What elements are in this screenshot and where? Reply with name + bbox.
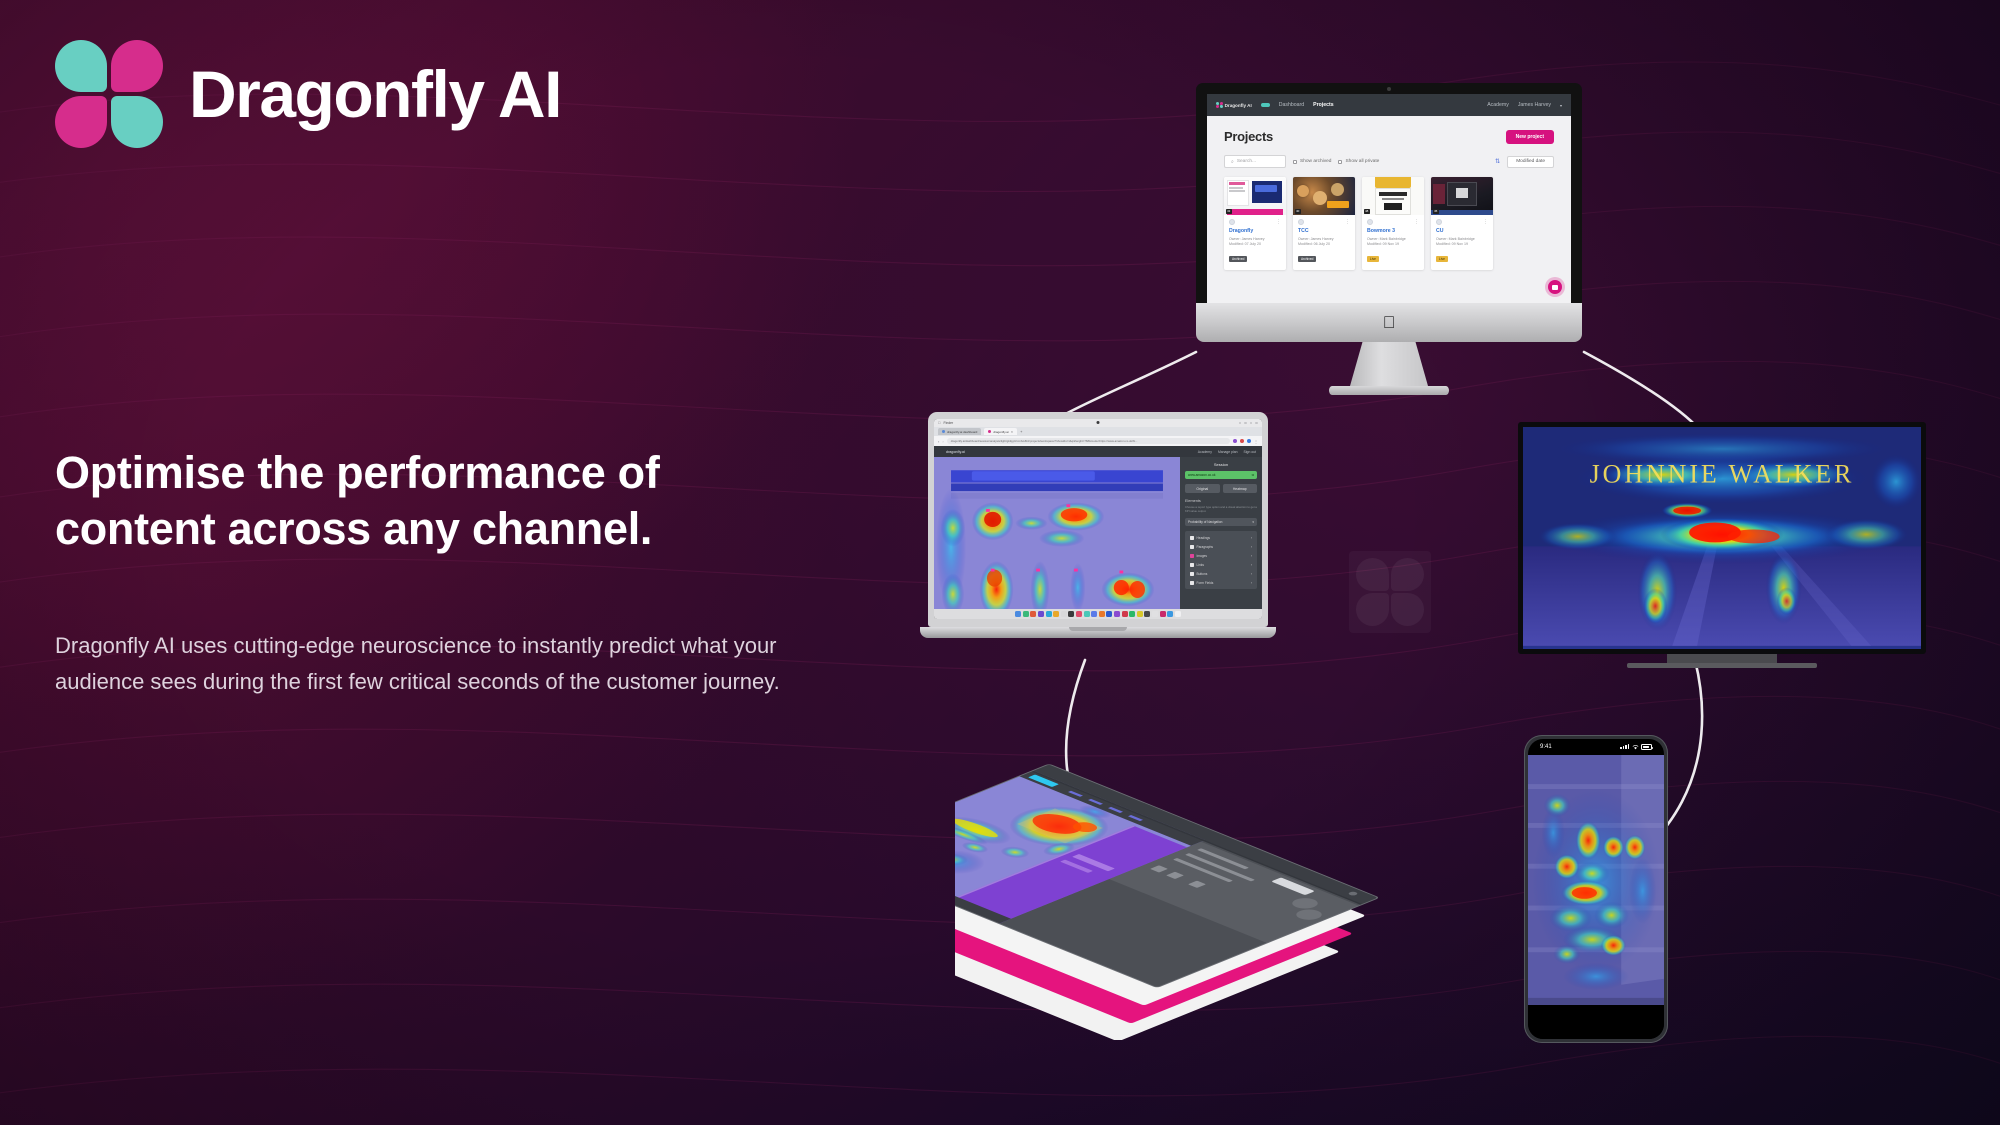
project-status-badge: Live xyxy=(1367,256,1379,262)
element-item-headings[interactable]: Headings › xyxy=(1187,533,1255,542)
phone-notch xyxy=(1574,741,1618,749)
dock-trash-icon[interactable] xyxy=(1175,611,1181,617)
project-status-badge: Archived xyxy=(1229,256,1247,262)
dashboard-user-menu[interactable]: James Harvey xyxy=(1518,102,1551,108)
elements-description: Choose a report type option and a visual… xyxy=(1185,505,1257,513)
dock-app-icon[interactable] xyxy=(1053,611,1059,617)
view-mode-tabs: Original Heatmap xyxy=(1185,484,1257,493)
element-label: Links xyxy=(1197,563,1204,567)
favicon-icon xyxy=(988,430,991,433)
project-modified: Modified: 07 July 20 xyxy=(1229,242,1281,247)
square-icon xyxy=(1190,572,1194,576)
project-modified: Modified: 09 Nov 19 xyxy=(1367,242,1419,247)
project-name[interactable]: CU xyxy=(1436,228,1488,234)
element-label: Headings xyxy=(1197,536,1210,540)
dock-app-icon[interactable] xyxy=(1114,611,1120,617)
square-icon xyxy=(1190,536,1194,540)
dashboard-badge-icon xyxy=(1261,103,1270,107)
chevron-right-icon: › xyxy=(1251,545,1252,549)
square-icon xyxy=(1190,545,1194,549)
dashboard-title-row: Projects New project xyxy=(1224,129,1554,144)
brand-name: Dragonfly AI xyxy=(189,56,561,132)
project-status-badge: Archived xyxy=(1298,256,1316,262)
app-nav-sign-out[interactable]: Sign out xyxy=(1244,450,1256,454)
card-menu-icon[interactable]: ⋮ xyxy=(1345,220,1350,225)
chevron-down-icon: ▾ xyxy=(1560,103,1562,108)
browser-tab-strip: dragonfly.ai dashboard dragonfly.ai ✕ + xyxy=(934,427,1262,436)
dock-app-icon[interactable] xyxy=(1046,611,1052,617)
sort-select[interactable]: Modified date xyxy=(1507,156,1554,168)
project-modified: Modified: 09 Nov 19 xyxy=(1436,242,1488,247)
search-input[interactable]: ⌕ Search... xyxy=(1224,155,1286,168)
dashboard-brand: Dragonfly AI xyxy=(1225,103,1252,108)
project-name[interactable]: Dragonfly xyxy=(1229,228,1281,234)
project-name[interactable]: Bowmore 3 xyxy=(1367,228,1419,234)
billboard-text: JOHNNIE WALKER xyxy=(1590,460,1855,489)
external-link-icon[interactable]: ⧉ xyxy=(1252,473,1254,477)
project-modified: Modified: 06 July 20 xyxy=(1298,242,1350,247)
extension-icon[interactable] xyxy=(1247,439,1251,443)
filter-label: Show archived xyxy=(1300,159,1331,164)
element-item-paragraphs[interactable]: Paragraphs › xyxy=(1187,542,1255,551)
tv-frame: JOHNNIE WALKER xyxy=(1518,422,1926,654)
filter-label: Show all private xyxy=(1345,159,1379,164)
favicon-icon xyxy=(942,430,945,433)
avatar xyxy=(1229,219,1235,225)
square-icon xyxy=(1190,581,1194,585)
app-body: Session www.amazon.co.uk ⧉ Original Heat… xyxy=(934,457,1262,609)
avatar xyxy=(1367,219,1373,225)
project-thumbnail: 45 xyxy=(1431,177,1493,215)
os-dock xyxy=(934,609,1262,619)
laptop-lid:  Finder dragonfly.ai dashboard d xyxy=(928,412,1268,627)
dashboard-nav-dashboard[interactable]: Dashboard xyxy=(1279,102,1304,108)
dock-app-icon[interactable] xyxy=(1144,611,1150,617)
tab-title: dragonfly.ai xyxy=(993,430,1008,434)
menubar-icon xyxy=(1250,422,1253,425)
browser-menu-icon[interactable]: ⋮ xyxy=(1254,439,1258,444)
dock-app-icon[interactable] xyxy=(1076,611,1082,617)
avatar xyxy=(1298,219,1304,225)
dock-app-icon[interactable] xyxy=(1015,611,1021,617)
dock-app-icon[interactable] xyxy=(1106,611,1112,617)
webpage-heatmap xyxy=(934,457,1180,609)
app-brand: dragonfly.ai xyxy=(946,450,965,454)
browser-tab-active[interactable]: dragonfly.ai ✕ xyxy=(984,428,1017,435)
status-time: 9:41 xyxy=(1540,744,1552,750)
address-bar[interactable]: dragonfly.ai/dashboard/session/analysis/… xyxy=(947,438,1230,445)
analysis-sidebar: Session www.amazon.co.uk ⧉ Original Heat… xyxy=(1180,457,1262,609)
chat-bubble-icon[interactable] xyxy=(1548,280,1562,294)
dock-app-icon[interactable] xyxy=(1122,611,1128,617)
dock-app-icon[interactable] xyxy=(1084,611,1090,617)
close-icon[interactable]: ✕ xyxy=(1011,430,1014,434)
project-thumbnail: 40 xyxy=(1293,177,1355,215)
card-menu-icon[interactable]: ⋮ xyxy=(1483,220,1488,225)
phone-screen: 9:41 xyxy=(1528,739,1664,1039)
element-item-form-fields[interactable]: Form Fields › xyxy=(1187,578,1255,587)
element-type-list: Headings › Paragraphs › Images xyxy=(1185,531,1257,589)
dock-app-icon[interactable] xyxy=(1129,611,1135,617)
filter-show-all-private[interactable]: Show all private xyxy=(1338,159,1379,164)
chevron-right-icon: › xyxy=(1251,581,1252,585)
heatmap-canvas[interactable] xyxy=(934,457,1180,609)
logo-petal-teal-top-left xyxy=(55,40,107,92)
chevron-down-icon: ▾ xyxy=(1252,520,1254,524)
tv-stand-foot xyxy=(1627,663,1817,668)
imac-desktop: Dragonfly AI Dashboard Projects Academy … xyxy=(1196,83,1582,395)
project-name[interactable]: TCC xyxy=(1298,228,1350,234)
logo-petal-teal-bottom-right xyxy=(111,96,163,148)
imac-stand-neck xyxy=(1350,342,1428,386)
phone-heatmap-content[interactable] xyxy=(1528,755,1664,1005)
project-card[interactable]: 40 ⋮ TCC Owner: James Harvey Modified: 0… xyxy=(1293,177,1355,270)
tab-title: dragonfly.ai dashboard xyxy=(947,430,977,434)
elements-label: Elements xyxy=(1185,499,1257,503)
card-menu-icon[interactable]: ⋮ xyxy=(1276,220,1281,225)
thumb-count-badge: 45 xyxy=(1433,209,1439,214)
project-status-badge: Live xyxy=(1436,256,1448,262)
menubar-icon xyxy=(1244,422,1247,425)
tv-screen: JOHNNIE WALKER xyxy=(1523,427,1921,649)
television-display: JOHNNIE WALKER xyxy=(1518,422,1926,668)
dragonfly-logo-icon xyxy=(55,40,163,148)
macbook-laptop:  Finder dragonfly.ai dashboard d xyxy=(928,412,1268,638)
chevron-right-icon: › xyxy=(1251,554,1252,558)
dashboard-nav-academy[interactable]: Academy xyxy=(1487,102,1509,108)
thumb-count-badge: 48 xyxy=(1364,209,1370,214)
brand-logo: Dragonfly AI xyxy=(55,40,561,148)
hero-slide: Dragonfly AI Optimise the performance of… xyxy=(0,0,2000,1125)
signal-icon xyxy=(1620,744,1630,751)
element-label: Buttons xyxy=(1197,572,1208,576)
headline-line-1: Optimise the performance of xyxy=(55,445,775,501)
square-icon-pink xyxy=(1190,554,1194,558)
dashboard-body: Projects New project ⌕ Search... Show ar… xyxy=(1207,116,1571,303)
element-item-buttons[interactable]: Buttons › xyxy=(1187,569,1255,578)
session-url: www.amazon.co.uk xyxy=(1188,473,1215,477)
metric-select-value: Probability of Navigation xyxy=(1188,520,1222,524)
tab-original[interactable]: Original xyxy=(1185,484,1220,493)
element-item-links[interactable]: Links › xyxy=(1187,560,1255,569)
metric-select[interactable]: Probability of Navigation ▾ xyxy=(1185,518,1257,526)
hero-headline: Optimise the performance of content acro… xyxy=(55,445,775,558)
retail-shelf-heatmap xyxy=(1528,755,1664,998)
dock-app-icon[interactable] xyxy=(1023,611,1029,617)
element-label: Paragraphs xyxy=(1197,545,1213,549)
dragonfly-logo-watermark-icon xyxy=(1349,551,1431,633)
imac-chin:  xyxy=(1196,303,1582,342)
app-nav-academy[interactable]: Academy xyxy=(1198,450,1212,454)
project-card-list: 43 ⋮ Dragonfly Owner: James Harvey Modif… xyxy=(1224,177,1554,270)
back-icon[interactable]: ‹ xyxy=(938,439,939,444)
os-active-app: Finder xyxy=(944,421,954,425)
billboard-heatmap: JOHNNIE WALKER xyxy=(1523,427,1921,646)
dock-app-icon[interactable] xyxy=(1160,611,1166,617)
new-tab-icon[interactable]: + xyxy=(1020,429,1022,434)
app-header: dragonfly.ai Academy Manage plan Sign ou… xyxy=(934,446,1262,457)
checkbox-icon[interactable] xyxy=(1338,160,1342,164)
dock-app-icon[interactable] xyxy=(1091,611,1097,617)
dashboard-logo-icon: Dragonfly AI xyxy=(1216,102,1252,109)
apple-menu-icon[interactable]:  xyxy=(938,421,941,425)
laptop-base xyxy=(920,627,1276,638)
dock-app-icon[interactable] xyxy=(1068,611,1074,617)
session-url-bar[interactable]: www.amazon.co.uk ⧉ xyxy=(1185,471,1257,479)
project-card[interactable]: 43 ⋮ Dragonfly Owner: James Harvey Modif… xyxy=(1224,177,1286,270)
phone-bottom-bar xyxy=(1528,1005,1664,1039)
card-menu-icon[interactable]: ⋮ xyxy=(1414,220,1419,225)
logo-petal-pink-bottom-left xyxy=(55,96,107,148)
square-icon xyxy=(1190,563,1194,567)
dashboard-nav-projects[interactable]: Projects xyxy=(1313,102,1333,108)
battery-icon xyxy=(1641,744,1652,750)
laptop-notch xyxy=(1069,627,1127,631)
thumb-count-badge: 43 xyxy=(1226,209,1232,214)
dock-app-icon[interactable] xyxy=(1099,611,1105,617)
dock-app-icon[interactable] xyxy=(1167,611,1173,617)
dock-app-icon[interactable] xyxy=(1030,611,1036,617)
dock-app-icon[interactable] xyxy=(1137,611,1143,617)
tablet-stack xyxy=(955,700,1425,1040)
chevron-right-icon: › xyxy=(1251,536,1252,540)
imac-screen: Dragonfly AI Dashboard Projects Academy … xyxy=(1207,94,1571,303)
menubar-icon xyxy=(1239,422,1242,425)
tv-stand-neck xyxy=(1667,654,1777,663)
phone-frame: 9:41 xyxy=(1524,735,1668,1043)
phone-status-bar: 9:41 xyxy=(1528,739,1664,755)
checkbox-icon[interactable] xyxy=(1293,160,1297,164)
tab-heatmap[interactable]: Heatmap xyxy=(1223,484,1258,493)
sidebar-title: Session xyxy=(1185,462,1257,467)
project-thumbnail: 48 xyxy=(1362,177,1424,215)
new-project-button[interactable]: New project xyxy=(1506,130,1554,144)
forward-icon[interactable]: › xyxy=(942,439,943,444)
element-label: Images xyxy=(1197,554,1207,558)
dashboard-filter-row: ⌕ Search... Show archived Show all priva… xyxy=(1224,155,1554,168)
page-title: Projects xyxy=(1224,129,1273,144)
dashboard-navbar: Dragonfly AI Dashboard Projects Academy … xyxy=(1207,94,1571,116)
logo-petal-pink-top-right xyxy=(111,40,163,92)
wifi-icon xyxy=(1632,744,1639,750)
menubar-icon xyxy=(1255,422,1258,425)
imac-bezel: Dragonfly AI Dashboard Projects Academy … xyxy=(1196,83,1582,303)
app-nav-manage-plan[interactable]: Manage plan xyxy=(1218,450,1238,454)
project-card[interactable]: 48 ⋮ Bowmore 3 Owner: Mark Bainbridge Mo… xyxy=(1362,177,1424,270)
search-placeholder: Search... xyxy=(1237,159,1256,164)
browser-toolbar: ‹ › dragonfly.ai/dashboard/session/analy… xyxy=(934,436,1262,446)
imac-stand-foot xyxy=(1329,386,1449,395)
chevron-right-icon: › xyxy=(1251,572,1252,576)
project-card[interactable]: 45 ⋮ CU Owner: Mark Bainbridge Modified:… xyxy=(1431,177,1493,270)
extension-icon[interactable] xyxy=(1233,439,1237,443)
element-label: Form Fields xyxy=(1197,581,1214,585)
hero-body-text: Dragonfly AI uses cutting-edge neuroscie… xyxy=(55,628,835,699)
project-thumbnail: 43 xyxy=(1224,177,1286,215)
thumb-count-badge: 40 xyxy=(1295,209,1301,214)
search-icon: ⌕ xyxy=(1231,159,1234,165)
dock-app-icon[interactable] xyxy=(1038,611,1044,617)
browser-tab[interactable]: dragonfly.ai dashboard xyxy=(938,428,981,435)
imac-camera-icon xyxy=(1387,87,1391,91)
dock-app-icon[interactable] xyxy=(1152,611,1158,617)
sort-icon[interactable]: ⇅ xyxy=(1495,158,1500,165)
apple-logo-icon:  xyxy=(1383,314,1396,331)
headline-line-2: content across any channel. xyxy=(55,501,775,557)
laptop-screen:  Finder dragonfly.ai dashboard d xyxy=(934,419,1262,619)
chevron-right-icon: › xyxy=(1251,563,1252,567)
smartphone: 9:41 xyxy=(1524,735,1668,1043)
element-item-images[interactable]: Images › xyxy=(1187,551,1255,560)
filter-show-archived[interactable]: Show archived xyxy=(1293,159,1331,164)
laptop-camera-icon xyxy=(1097,421,1100,424)
extension-icon[interactable] xyxy=(1240,439,1244,443)
dock-app-icon[interactable] xyxy=(1061,611,1067,617)
avatar xyxy=(1436,219,1442,225)
